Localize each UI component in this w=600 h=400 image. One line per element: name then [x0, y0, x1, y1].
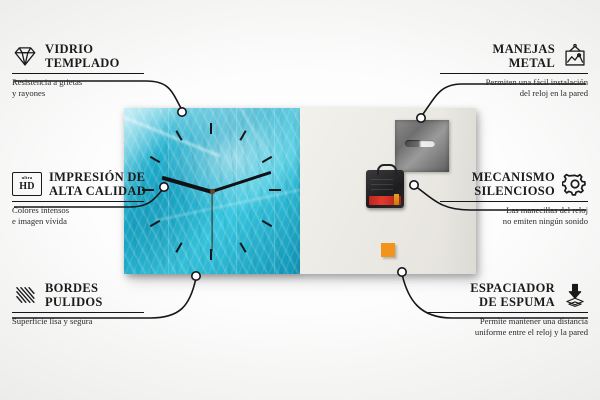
- gear-icon: [562, 171, 588, 197]
- diamond-icon: [12, 43, 38, 69]
- feature-subtitle: Las manecillas del reloj no emiten ningú…: [428, 205, 588, 226]
- feature-title: IMPRESIÓN DE ALTA CALIDAD: [49, 170, 146, 198]
- feature-rule: [12, 201, 144, 202]
- feature-subtitle: Resistencia a grietas y rayones: [12, 77, 162, 98]
- feature-rule: [12, 73, 144, 74]
- feature-subtitle: Superficie lisa y segura: [12, 316, 162, 327]
- feature-title: BORDES PULIDOS: [45, 281, 103, 309]
- feature-title: MECANISMO SILENCIOSO: [472, 170, 555, 198]
- feature-title: MANEJAS METAL: [492, 42, 555, 70]
- feature-rule: [426, 312, 588, 313]
- feature-rule: [12, 312, 144, 313]
- feature-subtitle: Permite mantener una distancia uniforme …: [420, 316, 588, 337]
- feature-title: VIDRIO TEMPLADO: [45, 42, 120, 70]
- feature-manejas-metal: MANEJAS METAL Permiten una fácil instala…: [428, 42, 588, 98]
- connector-node-right-3: [398, 268, 406, 276]
- feature-title: ESPACIADOR DE ESPUMA: [470, 281, 555, 309]
- foam-spacer-icon: [562, 282, 588, 308]
- feature-espaciador-espuma: ESPACIADOR DE ESPUMA Permite mantener un…: [420, 281, 588, 337]
- feature-bordes-pulidos: BORDES PULIDOS Superficie lisa y segura: [12, 281, 162, 327]
- connector-node-left-1: [178, 108, 186, 116]
- feature-vidrio-templado: VIDRIO TEMPLADO Resistencia a grietas y …: [12, 42, 162, 98]
- ultra-hd-icon: ultra HD: [12, 172, 42, 196]
- infographic-canvas: VIDRIO TEMPLADO Resistencia a grietas y …: [0, 0, 600, 400]
- connector-node-right-2: [410, 181, 418, 189]
- feature-subtitle: Permiten una fácil instalación del reloj…: [428, 77, 588, 98]
- wall-hanger-icon: [562, 43, 588, 69]
- feature-impresion-alta-calidad: ultra HD IMPRESIÓN DE ALTA CALIDAD Color…: [12, 170, 172, 226]
- connector-node-left-3: [192, 272, 200, 280]
- feature-subtitle: Colores intensos e imagen vívida: [12, 205, 172, 226]
- polished-edges-icon: [12, 282, 38, 308]
- ultra-hd-icon-main-label: HD: [19, 182, 34, 192]
- feature-mecanismo-silencioso: MECANISMO SILENCIOSO Las manecillas del …: [428, 170, 588, 226]
- connector-node-right-1: [417, 114, 425, 122]
- feature-rule: [440, 201, 588, 202]
- feature-rule: [440, 73, 588, 74]
